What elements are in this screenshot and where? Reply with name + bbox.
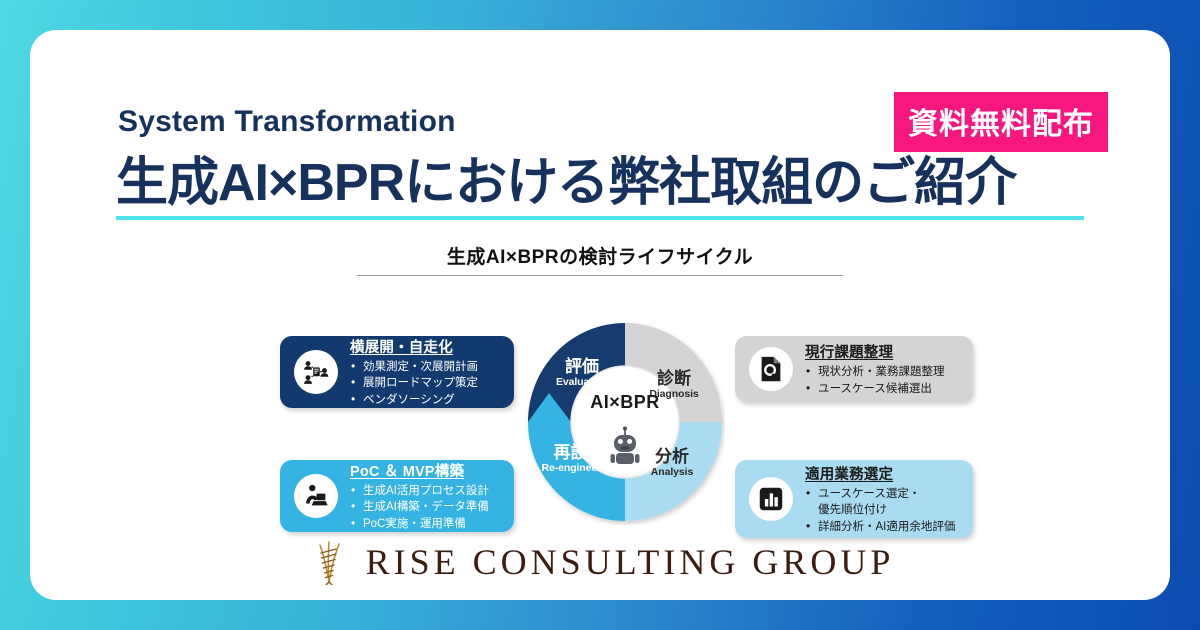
phase-title: PoC ＆ MVP構築 (350, 460, 506, 481)
bar-chart-icon (749, 477, 793, 521)
phase-title: 横展開・自走化 (350, 336, 506, 357)
person-laptop-icon (294, 474, 338, 518)
phase-card-body: 適用業務選定 ユースケース選定・ 優先順位付け 詳細分析・AI適用余地評価 (793, 463, 973, 535)
phase-card-body: PoC ＆ MVP構築 生成AI活用プロセス設計 生成AI構築・データ準備 Po… (338, 460, 514, 532)
lifecycle-diagram: 横展開・自走化 効果測定・次展開計画 展開ロードマップ策定 ベンダソーシング (30, 292, 1170, 532)
document-search-icon (749, 347, 793, 391)
poster-card: System Transformation 生成AI×BPRにおける弊社取組のご… (30, 30, 1170, 600)
phase-title: 現行課題整理 (805, 341, 965, 362)
rise-wheat-icon (306, 535, 352, 590)
status-badge: 資料無料配布 (894, 92, 1108, 152)
phase-card-genko-kadai: 現行課題整理 現状分析・業務課題整理 ユースケース候補選出 (735, 336, 973, 402)
list-item: 現状分析・業務課題整理 (805, 364, 965, 380)
phase-card-body: 現行課題整理 現状分析・業務課題整理 ユースケース候補選出 (793, 341, 973, 397)
phase-card-yokotenkai: 横展開・自走化 効果測定・次展開計画 展開ロードマップ策定 ベンダソーシング (280, 336, 514, 408)
phase-bullets: 効果測定・次展開計画 展開ロードマップ策定 ベンダソーシング (350, 359, 506, 408)
list-item: 効果測定・次展開計画 (350, 359, 506, 375)
people-network-icon (294, 350, 338, 394)
list-item: 生成AI活用プロセス設計 (350, 483, 506, 499)
eyebrow-text: System Transformation (118, 105, 456, 139)
brand-logo-text: RISE CONSULTING GROUP (366, 541, 895, 583)
header: System Transformation 生成AI×BPRにおける弊社取組のご… (30, 30, 1170, 230)
title-divider (116, 216, 1084, 220)
cycle-wheel: AI×BPR 評価 Evaluation 診断 Diagnosis 分析 Ana… (525, 320, 725, 525)
list-item: 展開ロードマップ策定 (350, 375, 506, 391)
phase-card-body: 横展開・自走化 効果測定・次展開計画 展開ロードマップ策定 ベンダソーシング (338, 336, 514, 408)
phase-bullets: ユースケース選定・ 優先順位付け 詳細分析・AI適用余地評価 (805, 486, 965, 535)
section-heading-label: 生成AI×BPRの検討ライフサイクル (345, 242, 855, 269)
phase-bullets: 生成AI活用プロセス設計 生成AI構築・データ準備 PoC実施・運用準備 (350, 483, 506, 532)
phase-card-tekiyo-gyomu: 適用業務選定 ユースケース選定・ 優先順位付け 詳細分析・AI適用余地評価 (735, 460, 973, 538)
list-item: 生成AI構築・データ準備 (350, 499, 506, 515)
list-item: ユースケース候補選出 (805, 381, 965, 397)
page-title: 生成AI×BPRにおける弊社取組のご紹介 (116, 140, 1016, 215)
list-item: 優先順位付け (805, 502, 965, 518)
list-item: ユースケース選定・ (805, 486, 965, 502)
phase-title: 適用業務選定 (805, 463, 965, 484)
phase-bullets: 現状分析・業務課題整理 ユースケース候補選出 (805, 364, 965, 397)
section-heading: 生成AI×BPRの検討ライフサイクル (345, 242, 855, 276)
brand-logo: RISE CONSULTING GROUP (30, 530, 1170, 594)
list-item: ベンダソーシング (350, 392, 506, 408)
section-divider (357, 275, 843, 276)
phase-card-poc-mvp: PoC ＆ MVP構築 生成AI活用プロセス設計 生成AI構築・データ準備 Po… (280, 460, 514, 532)
